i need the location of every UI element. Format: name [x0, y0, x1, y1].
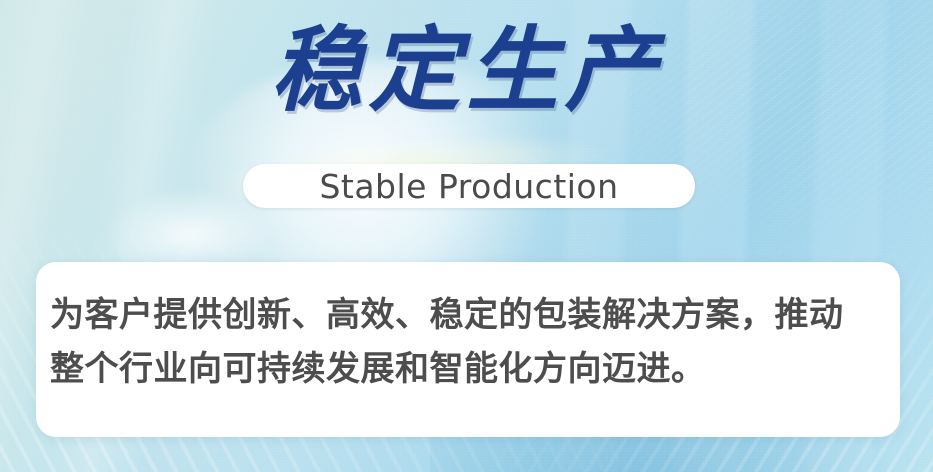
stable-production-banner: 稳定生产 Stable Production 为客户提供创新、高效、稳定的包装解…: [0, 0, 933, 472]
banner-subtitle: Stable Production: [319, 170, 618, 203]
banner-content: 稳定生产 Stable Production 为客户提供创新、高效、稳定的包装解…: [0, 0, 933, 472]
banner-title: 稳定生产: [0, 20, 933, 121]
description-text: 为客户提供创新、高效、稳定的包装解决方案，推动整个行业向可持续发展和智能化方向迈…: [50, 288, 872, 396]
subtitle-pill: Stable Production: [243, 164, 695, 208]
description-card: 为客户提供创新、高效、稳定的包装解决方案，推动整个行业向可持续发展和智能化方向迈…: [36, 262, 900, 437]
